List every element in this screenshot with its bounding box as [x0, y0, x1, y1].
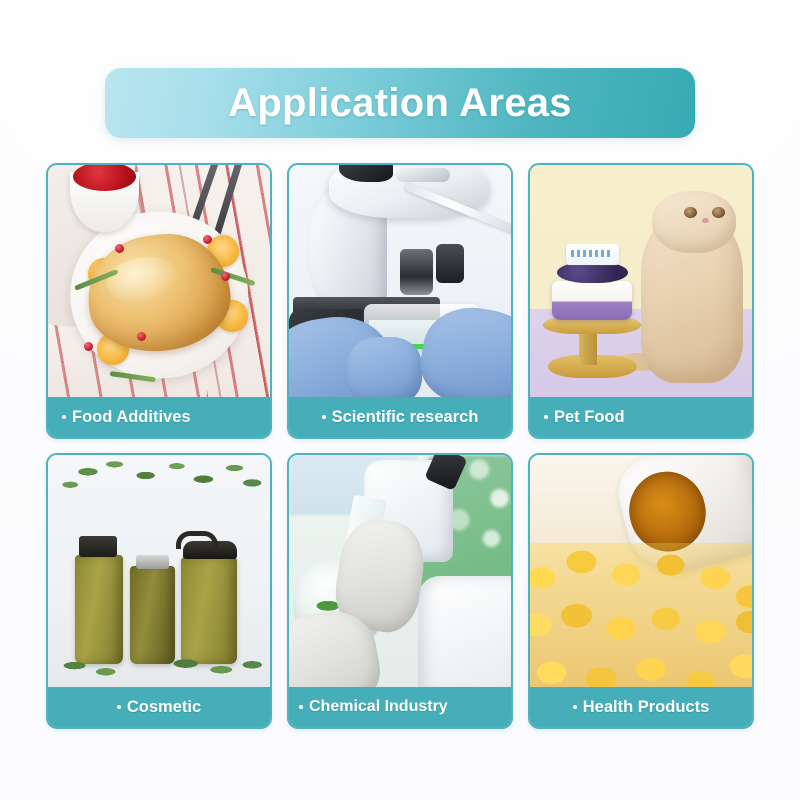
image-flask-with-plants — [289, 455, 511, 687]
card-food-additives[interactable]: Food Additives — [46, 163, 272, 439]
cake-stand-pole — [579, 332, 597, 364]
softgel-capsules-pile — [530, 543, 752, 687]
card-label-text: Scientific research — [332, 408, 479, 427]
birthday-cake — [552, 281, 632, 320]
lab-coat — [418, 576, 511, 687]
cat-eye — [684, 207, 697, 218]
page-title: Application Areas — [228, 81, 572, 126]
bullet-dot-icon — [322, 415, 326, 419]
card-label-text: Pet Food — [554, 408, 625, 427]
cranberry — [84, 342, 93, 351]
image-cosmetic-bottles — [48, 455, 270, 687]
cranberry — [221, 272, 230, 281]
cranberry — [203, 235, 212, 244]
card-label-health-products: Health Products — [530, 687, 752, 727]
bottle-cap-1 — [79, 536, 117, 557]
bullet-dot-icon — [544, 415, 548, 419]
bullet-dot-icon — [573, 705, 577, 709]
image-softgel-capsules — [530, 455, 752, 687]
card-label-text: Cosmetic — [127, 698, 201, 717]
page-header-banner: Application Areas — [105, 68, 695, 138]
card-label-food-additives: Food Additives — [48, 397, 270, 437]
bullet-dot-icon — [299, 705, 303, 709]
card-chemical-industry[interactable]: Chemical Industry — [287, 453, 513, 729]
pump-dispenser — [183, 541, 236, 560]
bottle-cap-2 — [136, 555, 169, 569]
cat-head — [652, 191, 736, 254]
microscope-objective-2 — [436, 244, 465, 283]
cranberry — [115, 244, 124, 253]
bullet-dot-icon — [62, 415, 66, 419]
cake-berry-topping — [557, 262, 628, 283]
application-areas-grid: Food Additives — [46, 163, 754, 729]
olive-branches-bottom — [48, 641, 270, 683]
image-cat-with-cake — [530, 165, 752, 397]
happy-birthday-topper — [566, 244, 619, 265]
card-label-text: Health Products — [583, 698, 710, 717]
card-label-text: Food Additives — [72, 408, 191, 427]
card-label-text: Chemical Industry — [309, 698, 448, 716]
image-microscope-research — [289, 165, 511, 397]
blue-glove-finger — [347, 337, 422, 397]
card-label-pet-food: Pet Food — [530, 397, 752, 437]
olive-branches-top — [48, 455, 270, 548]
image-roast-chicken — [48, 165, 270, 397]
card-health-products[interactable]: Health Products — [528, 453, 754, 729]
card-label-chemical-industry: Chemical Industry — [289, 687, 511, 727]
microscope-nosepiece — [396, 168, 450, 182]
bullet-dot-icon — [117, 705, 121, 709]
card-label-cosmetic: Cosmetic — [48, 687, 270, 727]
card-pet-food[interactable]: Pet Food — [528, 163, 754, 439]
microscope-eyepiece — [339, 165, 393, 182]
microscope-objective — [400, 249, 433, 295]
page-root: Application Areas — [0, 0, 800, 800]
card-scientific-research[interactable]: Scientific research — [287, 163, 513, 439]
card-cosmetic[interactable]: Cosmetic — [46, 453, 272, 729]
card-label-scientific-research: Scientific research — [289, 397, 511, 437]
